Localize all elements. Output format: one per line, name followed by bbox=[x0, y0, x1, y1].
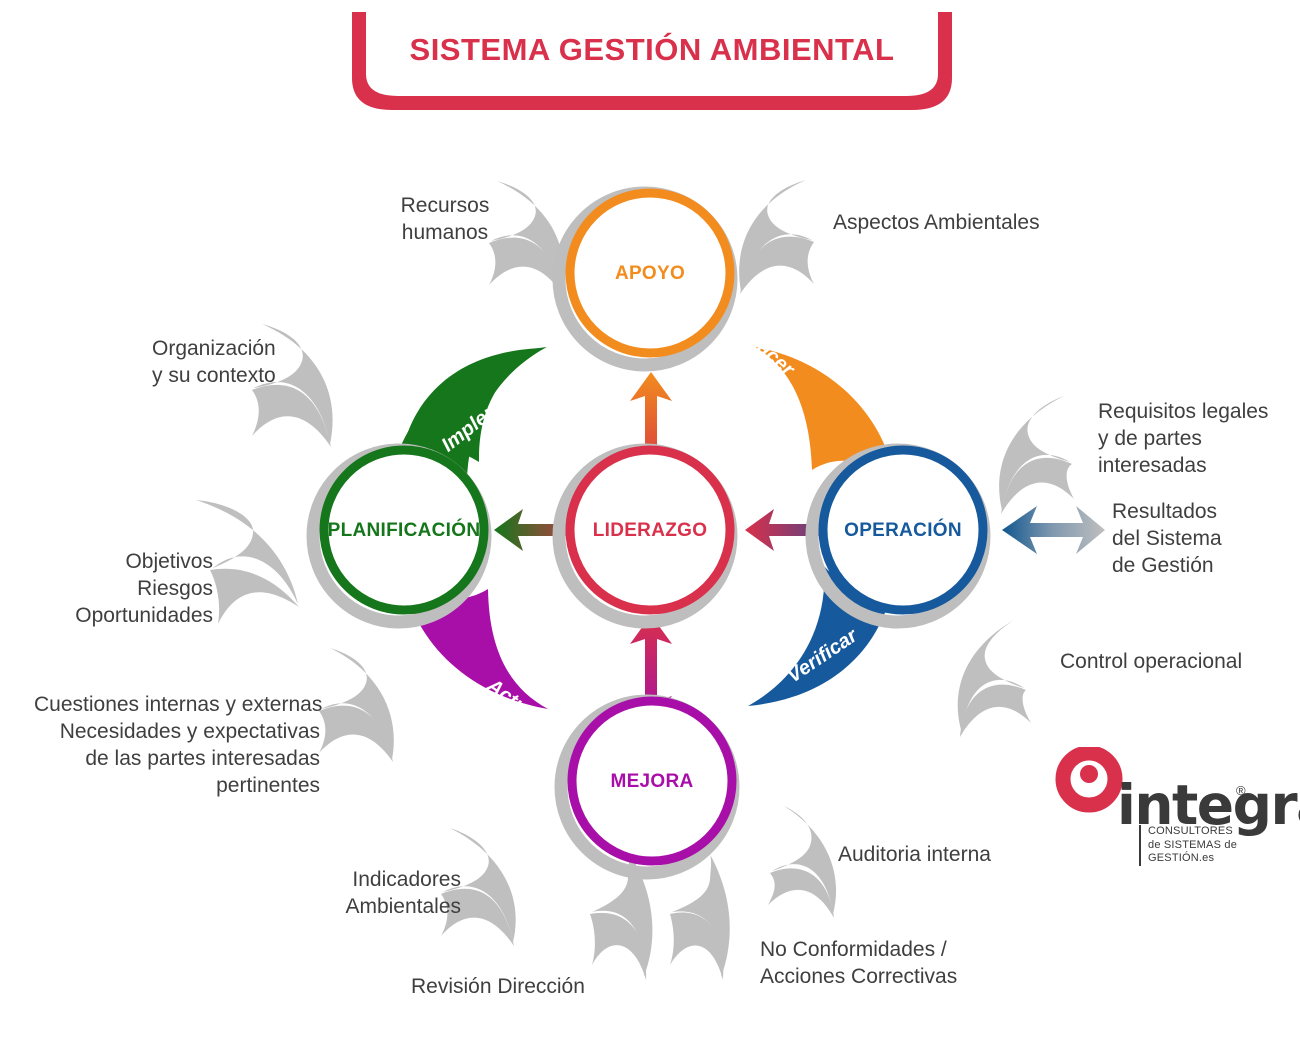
callout-control-operacional: Control operacional bbox=[1060, 648, 1300, 675]
node-label-apoyo: APOYO bbox=[615, 263, 685, 285]
node-label-mejora: MEJORA bbox=[610, 771, 693, 793]
node-label-planificacion: PLANIFICACIÓN bbox=[328, 520, 481, 542]
callout-revision-direccion: Revisión Dirección bbox=[411, 973, 641, 1000]
callout-requisitos-legales: Requisitos legales y de partes interesad… bbox=[1098, 398, 1298, 479]
logo-registered-icon: ® bbox=[1236, 783, 1246, 798]
callout-cuestiones-internas: Cuestiones internas y externas Necesidad… bbox=[34, 691, 320, 799]
integra-logo: integra ® CONSULTORES de SISTEMAS de GES… bbox=[1055, 747, 1255, 867]
diagram-canvas: SISTEMA GESTIÓN AMBIENTAL bbox=[0, 0, 1300, 1049]
node-label-operacion: OPERACIÓN bbox=[844, 520, 962, 542]
node-label-liderazgo: LIDERAZGO bbox=[593, 520, 708, 542]
callout-recursos-humanos: Recursos humanos bbox=[365, 192, 525, 246]
callout-organizacion-contexto: Organización y su contexto bbox=[152, 335, 392, 389]
callout-resultados-sistema: Resultados del Sistema de Gestión bbox=[1112, 498, 1292, 579]
callout-objetivos-riesgos: Objetivos Riesgos Oportunidades bbox=[48, 548, 213, 629]
logo-tagline: CONSULTORES de SISTEMAS de GESTIÓN.es bbox=[1139, 825, 1237, 866]
callout-indicadores-ambientales: Indicadores Ambientales bbox=[311, 866, 461, 920]
logo-dot bbox=[1080, 765, 1098, 783]
arrow-resultados-sistema bbox=[1002, 506, 1105, 554]
callout-no-conformidades: No Conformidades / Acciones Correctivas bbox=[760, 936, 1010, 990]
callout-auditoria-interna: Auditoria interna bbox=[838, 841, 1058, 868]
callout-aspectos-ambientales: Aspectos Ambientales bbox=[833, 209, 1073, 236]
